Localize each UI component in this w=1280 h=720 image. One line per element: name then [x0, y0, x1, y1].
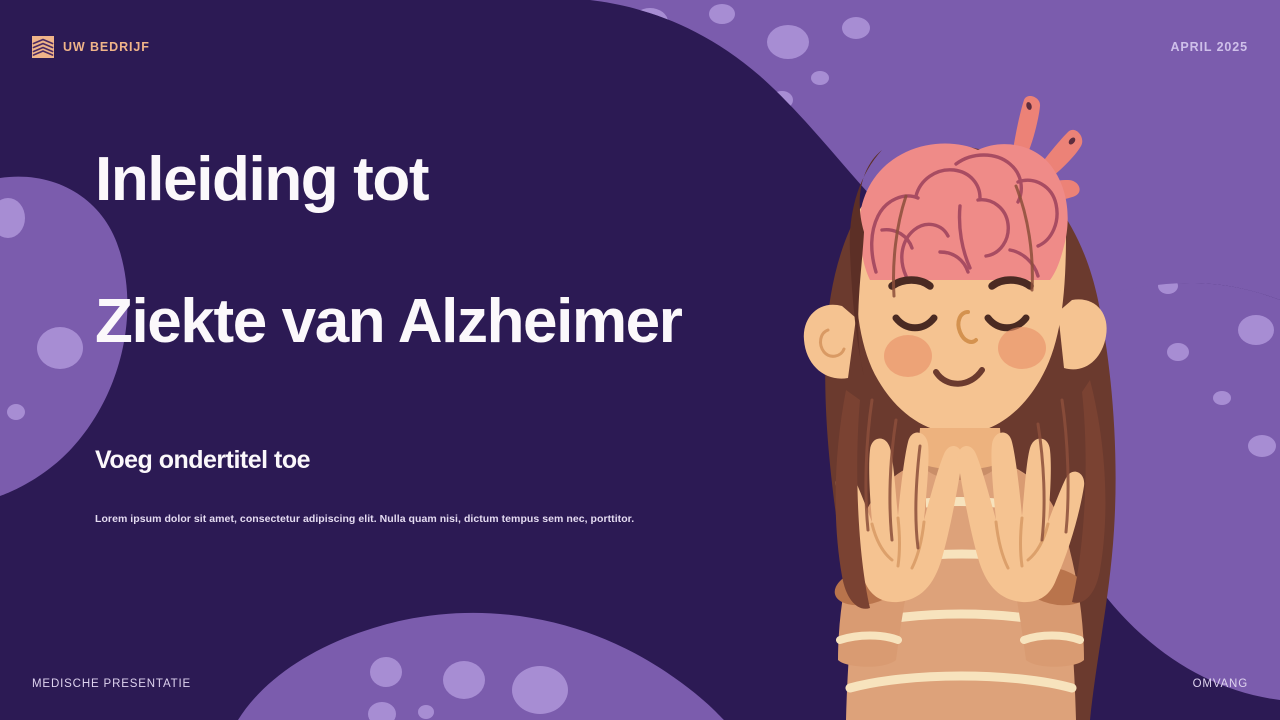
slide-content: Inleiding tot Ziekte van Alzheimer Voeg … — [95, 148, 775, 525]
footer-left-label: MEDISCHE PRESENTATIE — [32, 678, 191, 690]
page-body-text: Lorem ipsum dolor sit amet, consectetur … — [95, 513, 775, 525]
page-subtitle: Voeg ondertitel toe — [95, 446, 775, 475]
brand-name: UW BEDRIJF — [63, 40, 150, 54]
presentation-slide: UW BEDRIJF APRIL 2025 — [0, 0, 1280, 720]
blush-left — [884, 335, 932, 377]
footer-right-label: OMVANG — [1193, 678, 1248, 690]
page-title-line-1: Inleiding tot — [95, 148, 775, 212]
brand-lockup: UW BEDRIJF — [32, 36, 150, 58]
ear-left — [804, 305, 856, 379]
brain — [859, 144, 1067, 281]
slide-header: UW BEDRIJF APRIL 2025 — [32, 32, 1248, 62]
slide-date: APRIL 2025 — [1170, 40, 1248, 54]
chevron-stack-logo-icon — [32, 36, 54, 58]
slide-footer: MEDISCHE PRESENTATIE OMVANG — [32, 678, 1248, 690]
blush-right — [998, 327, 1046, 369]
page-title-line-2: Ziekte van Alzheimer — [95, 290, 775, 354]
